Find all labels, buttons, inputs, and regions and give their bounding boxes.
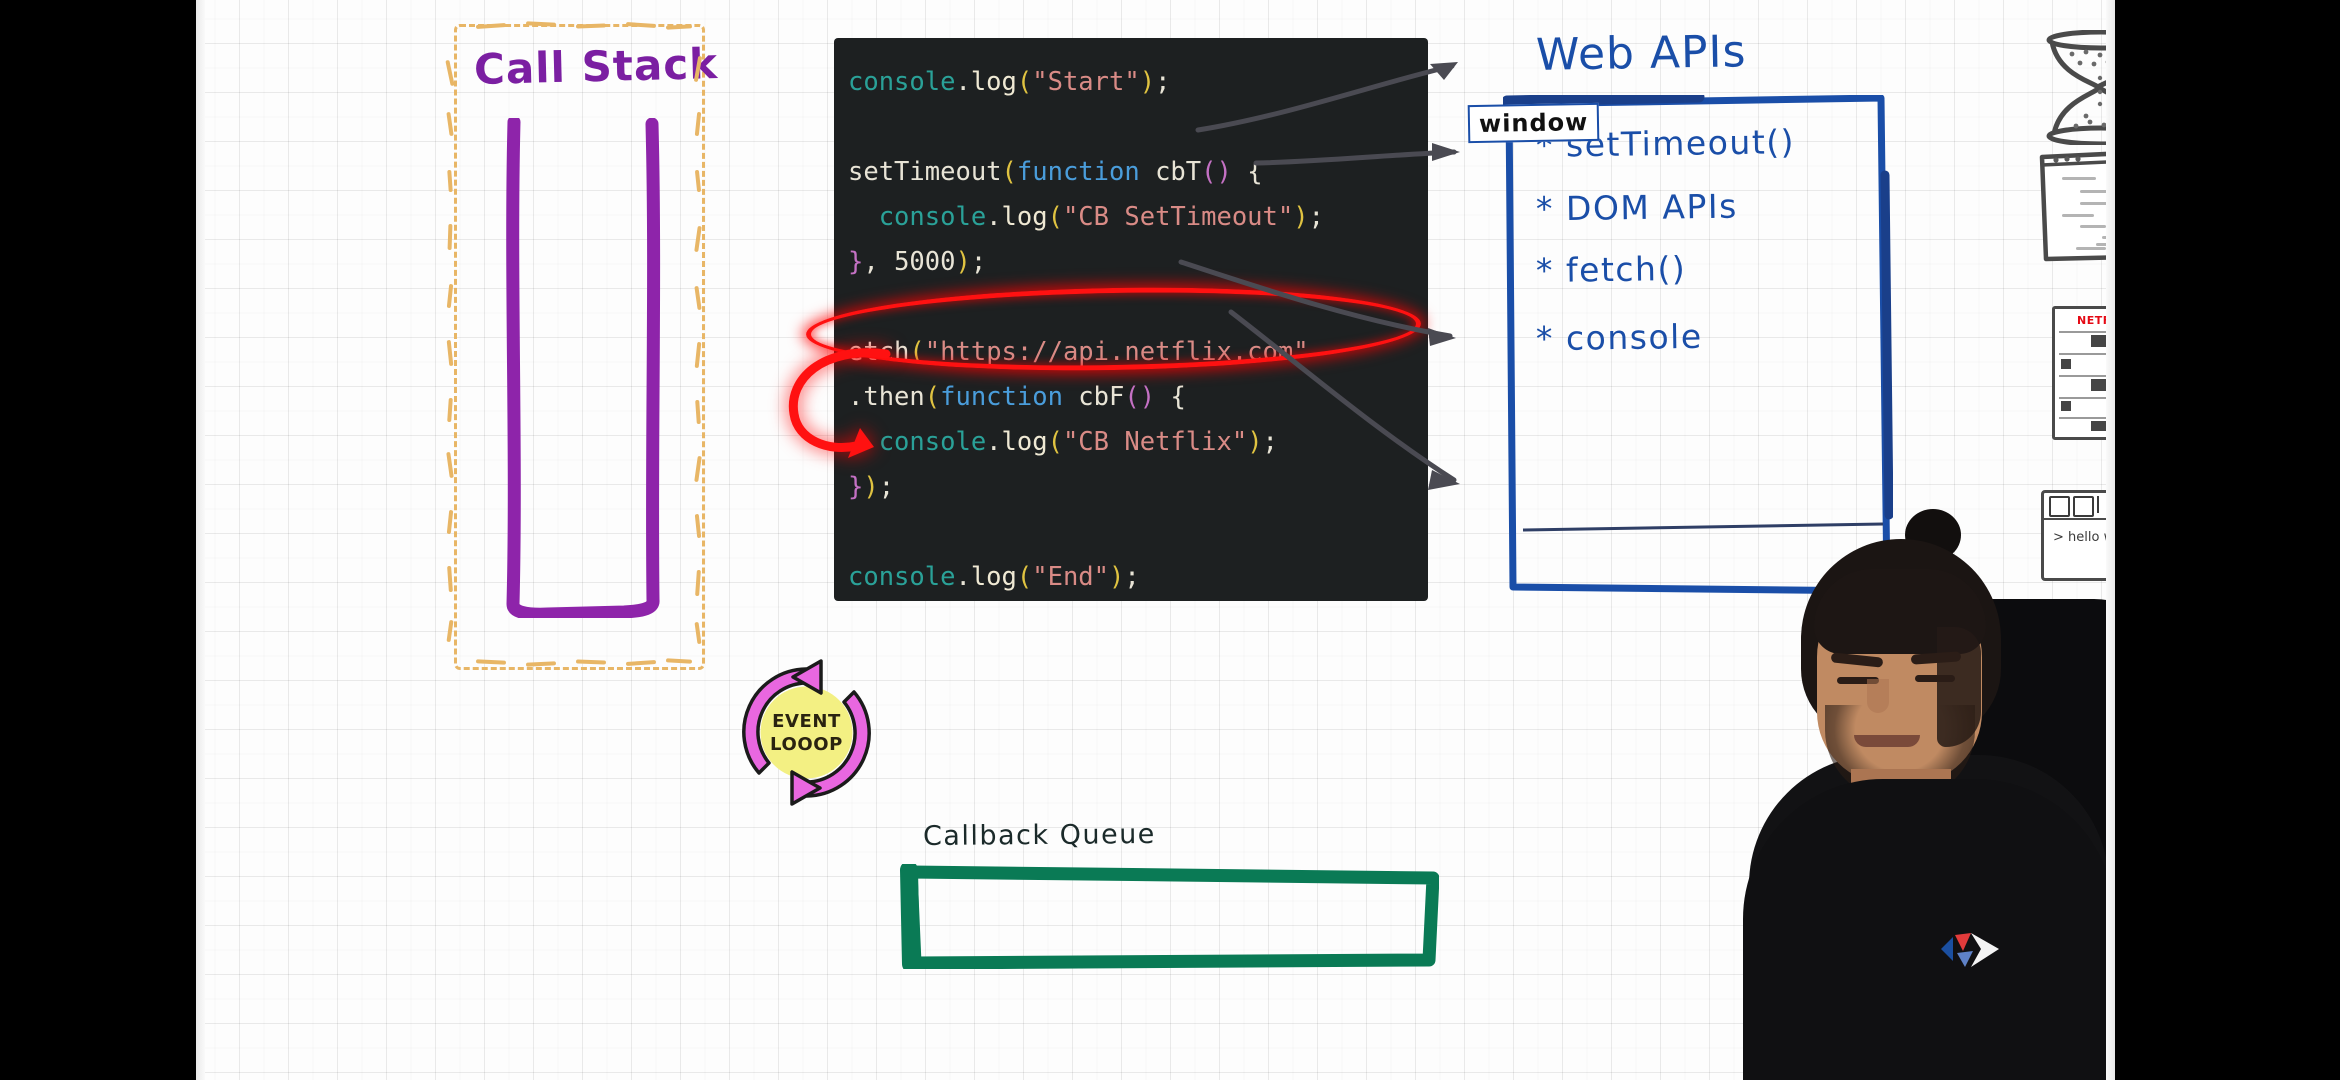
code-token: ( [1002, 157, 1017, 187]
code-line: }, 5000); [848, 240, 1428, 285]
selection-dash-tick [446, 112, 453, 136]
black-hoodie [1743, 779, 2109, 1080]
code-token: "CB SetTimeout" [1063, 202, 1293, 232]
event-loop-diagram[interactable]: EVENT LOOOP [729, 655, 884, 810]
call-stack-container [504, 118, 664, 618]
code-token: . [986, 202, 1001, 232]
code-token: } [848, 247, 863, 277]
code-token: etch [848, 337, 909, 367]
bullet-icon: * [1536, 251, 1555, 290]
letterbox-left [0, 0, 196, 1080]
presenter-webcam-overlay [1719, 487, 2109, 1080]
selection-dash-tick [446, 452, 454, 478]
code-token: ; [971, 247, 986, 277]
web-api-item-fetch[interactable]: * fetch() [1536, 249, 1687, 290]
code-line: .then(function cbF() { [848, 375, 1428, 420]
selection-dash-tick [447, 566, 453, 592]
code-token: ) [1293, 202, 1308, 232]
code-token: () [1201, 157, 1232, 187]
code-token: { [1155, 382, 1186, 412]
code-token: . [986, 427, 1001, 457]
code-token: cbT [1140, 157, 1201, 187]
selection-dash-tick [448, 224, 453, 250]
code-token: setTimeout [848, 157, 1002, 187]
code-token: "Start" [1032, 67, 1139, 97]
netflix-logo: NETFLIX [2077, 314, 2115, 327]
code-token: . [955, 562, 970, 592]
selection-dash-tick [447, 340, 454, 366]
web-api-item-dom-apis[interactable]: * DOM APIs [1536, 187, 1738, 229]
code-token: , [863, 247, 894, 277]
web-api-item-label: console [1566, 317, 1703, 358]
code-token: .then [848, 382, 925, 412]
web-api-item-label: DOM APIs [1566, 187, 1738, 228]
code-token: ( [1048, 202, 1063, 232]
code-token: () [1124, 382, 1155, 412]
code-token: ; [879, 472, 894, 502]
netflix-desktop-window: NETFLIX [2052, 306, 2115, 440]
code-token: . [955, 67, 970, 97]
code-token: } [848, 472, 863, 502]
code-token: console [848, 67, 955, 97]
code-token: function [1017, 157, 1140, 187]
code-token: ( [1048, 427, 1063, 457]
code-token: "End" [1032, 562, 1109, 592]
code-token: ) [863, 472, 878, 502]
code-token: ; [1263, 427, 1278, 457]
bullet-icon: * [1536, 189, 1555, 228]
code-token: log [971, 562, 1017, 592]
code-token: ; [1309, 202, 1324, 232]
code-line: }); [848, 465, 1428, 510]
code-token: 5000 [894, 247, 955, 277]
code-token: ( [1017, 562, 1032, 592]
code-line [848, 285, 1428, 330]
code-editor-block[interactable]: console.log("Start"); setTimeout(functio… [834, 38, 1428, 601]
selection-dash-tick [447, 284, 453, 308]
selection-dash-tick [447, 170, 453, 192]
web-apis-title: Web APIs [1536, 26, 1747, 81]
code-line: console.log("CB SetTimeout"); [848, 195, 1428, 240]
hoodie-chest-logo-icon [1937, 927, 2003, 973]
code-line: console.log("End"); [848, 555, 1428, 600]
code-token: cbF [1063, 382, 1124, 412]
code-token: "https://api.netflix.com" [925, 337, 1309, 367]
code-token: console [848, 562, 955, 592]
selection-dash-tick [447, 398, 453, 422]
code-token: log [971, 67, 1017, 97]
call-stack-title: Call Stack [473, 39, 718, 94]
code-line: etch("https://api.netflix.com" [848, 330, 1428, 375]
hourglass-icon [2036, 30, 2115, 145]
code-token: ; [1155, 67, 1170, 97]
code-line [848, 510, 1428, 555]
code-token: ( [909, 337, 924, 367]
code-token: log [1002, 202, 1048, 232]
web-api-item-label: setTimeout() [1566, 122, 1796, 164]
code-token: ) [956, 247, 971, 277]
window-tag-label: window [1468, 103, 1600, 143]
code-line: console.log("Start"); [848, 60, 1428, 105]
code-token: { [1232, 157, 1263, 187]
code-token: ; [1124, 562, 1139, 592]
screen: Call Stack console.log("Start"); setTime… [0, 0, 2340, 1080]
event-loop-circle [729, 655, 884, 810]
code-token: function [940, 382, 1063, 412]
letterbox-right [2115, 0, 2340, 1080]
bullet-icon: * [1536, 319, 1555, 358]
code-line [848, 105, 1428, 150]
code-token: "CB Netflix" [1063, 427, 1247, 457]
code-token: ) [1140, 67, 1155, 97]
code-token: log [1002, 427, 1048, 457]
mouth [1854, 735, 1920, 747]
netflix-ui-icon: NETFLIX NETFLIX [2046, 300, 2115, 440]
html-document-icon [2036, 143, 2115, 263]
web-api-item-console[interactable]: * console [1536, 317, 1703, 358]
code-token: console [848, 427, 986, 457]
eye-right [1915, 675, 1955, 682]
web-api-item-label: fetch() [1566, 249, 1687, 290]
selection-dash-tick [447, 510, 453, 534]
code-token: console [848, 202, 986, 232]
code-token: ( [1017, 67, 1032, 97]
selection-dash-tick [446, 620, 453, 642]
callback-queue-box[interactable] [899, 864, 1439, 969]
code-token: ) [1247, 427, 1262, 457]
code-token: ( [925, 382, 940, 412]
whiteboard-canvas[interactable]: Call Stack console.log("Start"); setTime… [196, 0, 2115, 1080]
code-token: ) [1109, 562, 1124, 592]
code-line: console.log("CB Netflix"); [848, 420, 1428, 465]
callback-queue-title: Callback Queue [923, 819, 1156, 852]
code-line: setTimeout(function cbT() { [848, 150, 1428, 195]
